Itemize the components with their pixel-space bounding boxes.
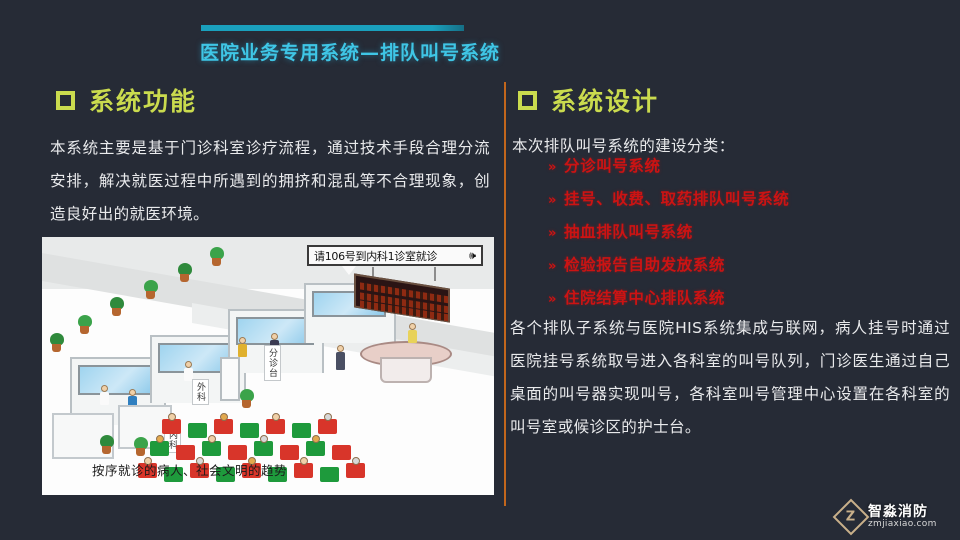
- page-title: 医院业务专用系统—排队叫号系统: [200, 38, 620, 65]
- seated-patient: [156, 435, 164, 443]
- plant-pot-icon: [242, 400, 251, 408]
- seated-patient: [220, 413, 228, 421]
- chevron-right-icon: »: [548, 220, 557, 247]
- waiting-seat: [150, 441, 169, 456]
- banner-tail: [342, 266, 356, 275]
- list-item: » 抽血排队叫号系统: [548, 219, 938, 247]
- watermark-brand: 智淼消防: [868, 505, 937, 520]
- column-divider: [504, 82, 506, 506]
- waiting-seat: [266, 419, 285, 434]
- waiting-seat: [318, 419, 337, 434]
- department-sign-fenzhentai: 分诊台: [264, 345, 281, 381]
- section-title-right: 系统设计: [551, 82, 659, 118]
- plant-pot-icon: [212, 258, 221, 266]
- announcement-banner: 请106号到内科1诊室就诊 🕪: [307, 245, 483, 266]
- led-board-hanger: [434, 267, 436, 281]
- plant-pot-icon: [102, 446, 111, 454]
- list-item-label: 分诊叫号系统: [564, 153, 661, 180]
- chevron-right-icon: »: [548, 154, 557, 181]
- waiting-seat: [332, 445, 351, 460]
- waiting-seat: [254, 441, 273, 456]
- seated-patient: [352, 457, 360, 465]
- list-item: » 分诊叫号系统: [548, 153, 938, 181]
- list-item-label: 抽血排队叫号系统: [564, 219, 693, 246]
- waiting-seat: [292, 423, 311, 438]
- chevron-right-icon: »: [548, 187, 557, 214]
- logo-letter: Z: [846, 510, 855, 525]
- plant-pot-icon: [180, 274, 189, 282]
- waiting-seat: [294, 463, 313, 478]
- right-paragraph: 各个排队子系统与医院HIS系统集成与联网，病人挂号时通过医院挂号系统取号进入各科…: [510, 312, 950, 444]
- list-item: » 挂号、收费、取药排队叫号系统: [548, 186, 938, 214]
- seated-patient: [312, 435, 320, 443]
- waiting-seat: [320, 467, 339, 482]
- list-item-label: 检验报告自助发放系统: [564, 252, 725, 279]
- booth-glass-panel: [78, 365, 156, 395]
- speaker-icon: 🕪: [469, 249, 476, 263]
- seated-patient: [168, 413, 176, 421]
- waiting-seat: [306, 441, 325, 456]
- seated-patient: [324, 413, 332, 421]
- illustration-caption: 按序就诊的病人、社会文明的趋势: [92, 460, 287, 479]
- list-item: » 检验报告自助发放系统: [548, 252, 938, 280]
- waiting-seat: [162, 419, 181, 434]
- watermark-logo: Z 智淼消防 zmjiaxiao.com: [838, 500, 954, 534]
- square-outline-icon: [518, 91, 537, 110]
- waiting-seat: [346, 463, 365, 478]
- watermark-texts: 智淼消防 zmjiaxiao.com: [868, 505, 937, 529]
- room-door: [220, 357, 240, 401]
- list-item-label: 住院结算中心排队系统: [564, 285, 725, 312]
- department-sign-waike: 外科: [192, 379, 209, 405]
- section-heading-left: 系统功能: [56, 82, 197, 118]
- list-item: » 住院结算中心排队系统: [548, 285, 938, 313]
- hospital-queue-illustration: 外科 分诊台 内科: [42, 237, 494, 495]
- seated-patient: [300, 457, 308, 465]
- seated-patient: [208, 435, 216, 443]
- slide-root: 医院业务专用系统—排队叫号系统 系统功能 本系统主要是基于门诊科室诊疗流程，通过…: [0, 0, 960, 540]
- plant-pot-icon: [80, 326, 89, 334]
- chevron-right-icon: »: [548, 286, 557, 313]
- list-item-label: 挂号、收费、取药排队叫号系统: [564, 186, 789, 213]
- illustration-scene: 外科 分诊台 内科: [42, 237, 494, 495]
- title-accent-bar: [201, 25, 464, 31]
- waiting-seat: [240, 423, 259, 438]
- waiting-seat: [280, 445, 299, 460]
- watermark-url: zmjiaxiao.com: [868, 520, 937, 529]
- left-paragraph: 本系统主要是基于门诊科室诊疗流程，通过技术手段合理分流安排，解决就医过程中所遇到…: [50, 132, 490, 231]
- plant-pot-icon: [136, 448, 145, 456]
- chevron-right-icon: »: [548, 253, 557, 280]
- waiting-seat: [176, 445, 195, 460]
- announcement-text: 请106号到内科1诊室就诊: [314, 248, 437, 264]
- subsystem-list: » 分诊叫号系统 » 挂号、收费、取药排队叫号系统 » 抽血排队叫号系统 » 检…: [548, 153, 938, 318]
- reception-desk-base: [380, 357, 432, 383]
- plant-pot-icon: [146, 291, 155, 299]
- waiting-seat: [228, 445, 247, 460]
- square-outline-icon: [56, 91, 75, 110]
- section-heading-right: 系统设计: [518, 82, 659, 118]
- section-title-left: 系统功能: [89, 82, 197, 118]
- waiting-seat: [202, 441, 221, 456]
- seated-patient: [272, 413, 280, 421]
- seated-patient: [260, 435, 268, 443]
- plant-pot-icon: [112, 308, 121, 316]
- plant-pot-icon: [52, 344, 61, 352]
- diamond-z-logo-icon: Z: [833, 499, 870, 536]
- waiting-seat: [214, 419, 233, 434]
- waiting-seat: [188, 423, 207, 438]
